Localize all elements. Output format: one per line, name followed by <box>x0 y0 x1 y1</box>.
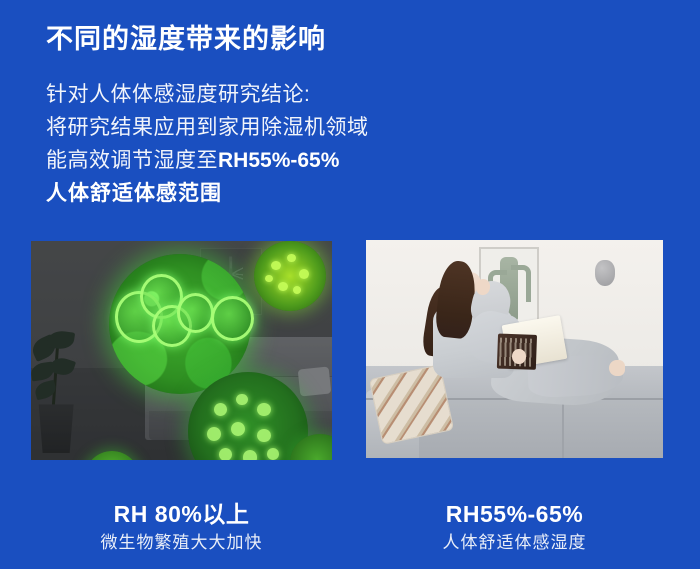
caption-right-subtitle: 人体舒适体感湿度 <box>366 530 663 556</box>
dim-living-room-scene <box>31 241 332 460</box>
photo-panel-left <box>31 241 332 460</box>
germ-sphere-small-icon <box>254 241 326 311</box>
germ-dot <box>214 403 227 416</box>
page-title: 不同的湿度带来的影响 <box>46 17 326 56</box>
germ-dot <box>257 429 270 442</box>
germ-sphere-large-icon <box>109 254 250 394</box>
germ-dot <box>257 403 270 416</box>
body-line-3-prefix: 能高效调节湿度至 <box>46 149 218 172</box>
germ-dot <box>207 427 221 441</box>
germ-dot <box>271 261 281 271</box>
woman-foot <box>609 360 625 376</box>
body-line-4: 人体舒适体感范围 <box>46 177 566 210</box>
caption-left-subtitle: 微生物繁殖大大加快 <box>31 530 332 556</box>
woman-hand <box>512 349 526 364</box>
germ-dot <box>231 422 245 436</box>
bright-living-room-scene <box>366 240 663 458</box>
germ-dot <box>265 275 273 283</box>
germ-dot <box>293 286 301 294</box>
body-copy: 针对人体体感湿度研究结论: 将研究结果应用到家用除湿机领域 能高效调节湿度至RH… <box>46 78 566 210</box>
germ-dot <box>267 448 279 460</box>
germ-dot <box>287 254 296 262</box>
caption-right: RH55%-65% 人体舒适体感湿度 <box>366 500 663 556</box>
germ-dot <box>299 269 309 279</box>
poster-root: 不同的湿度带来的影响 针对人体体感湿度研究结论: 将研究结果应用到家用除湿机领域… <box>0 0 700 569</box>
germ-cell <box>211 296 254 341</box>
photo-panel-right <box>366 240 663 458</box>
woman-reading <box>402 257 628 440</box>
body-line-3: 能高效调节湿度至RH55%-65% <box>46 144 566 177</box>
body-line-3-emphasis: RH55%-65% <box>218 149 339 172</box>
germ-dot <box>236 394 248 406</box>
caption-left: RH 80%以上 微生物繁殖大大加快 <box>31 500 332 556</box>
caption-right-title: RH55%-65% <box>366 500 663 528</box>
caption-left-title: RH 80%以上 <box>31 500 332 528</box>
body-line-1: 针对人体体感湿度研究结论: <box>46 78 566 111</box>
germ-dot <box>278 282 287 291</box>
germ-dot <box>243 450 257 460</box>
body-line-2: 将研究结果应用到家用除湿机领域 <box>46 111 566 144</box>
germ-cell <box>177 293 214 333</box>
germ-dot <box>219 448 232 460</box>
